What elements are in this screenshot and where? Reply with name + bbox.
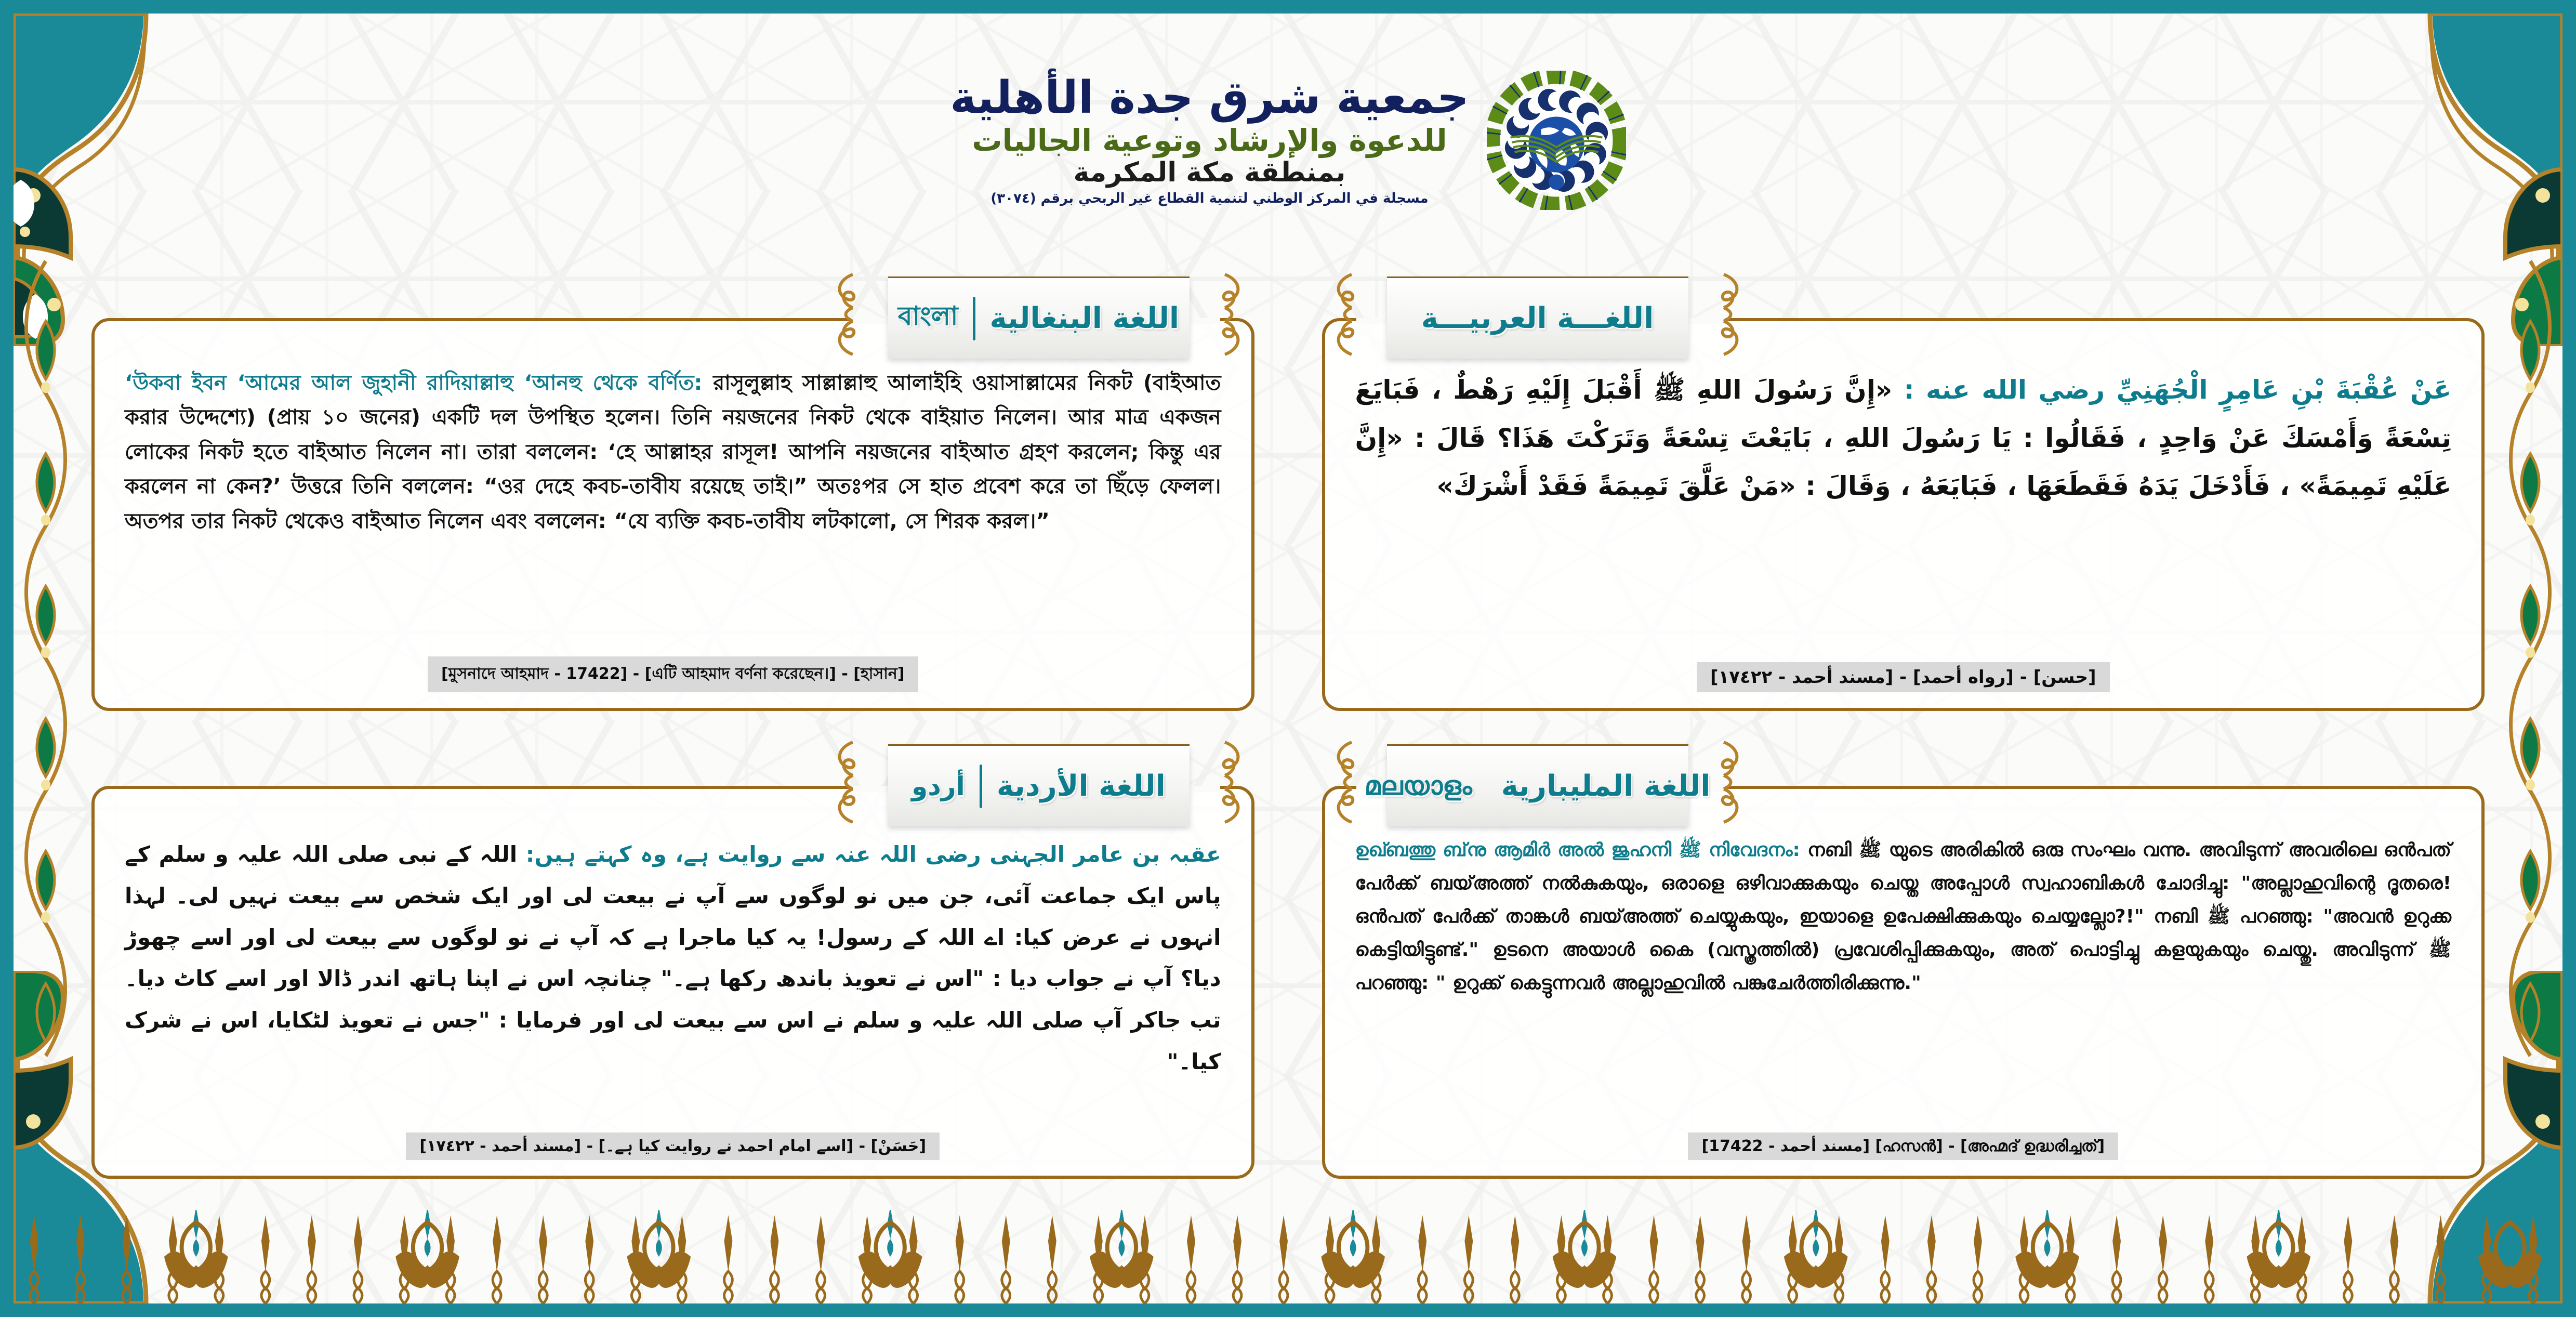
org-name-line1: جمعية شرق جدة الأهلية <box>950 74 1469 121</box>
org-name-line3: بمنطقة مكة المكرمة <box>950 159 1469 187</box>
hadith-body-bengali: রাসূলুল্লাহ সাল্লাল্লাহু আলাইহি ওয়াসাল্… <box>125 371 1221 533</box>
panel-box-bengali: ‘উকবা ইবন ‘আমের আল জুহানী রাদিয়াল্লাহু … <box>91 318 1254 711</box>
panel-title-plaque-urdu: اللغة الأردية أردو <box>857 741 1221 829</box>
bottom-fringe-ornament <box>14 1210 2562 1303</box>
side-ornament-right <box>2499 237 2561 1080</box>
panel-malayalam: اللغة المليبارية മലയാളം ഉഖ്ബത് <box>1322 741 2485 1179</box>
panel-urdu: اللغة الأردية أردو عقبہ بن عام <box>91 741 1254 1179</box>
citation-arabic: [حسن] - [رواه أحمد] - [مسند أحمد - ١٧٤٢٢… <box>1697 662 2110 692</box>
narrator-line-urdu: عقبہ بن عامر الجہنی رضی اللہ عنہ سے روای… <box>526 841 1221 867</box>
language-panels-grid: اللغة البنغالية বাংলা ‘উকবা ইব <box>91 273 2485 1179</box>
panel-title-arabic-arabic: اللغـــة العربيـــة <box>1421 301 1654 335</box>
poster-page: جمعية شرق جدة الأهلية للدعوة والإرشاد وت… <box>14 14 2562 1303</box>
scroll-ornament-right-icon <box>1718 271 1747 358</box>
scroll-ornament-right-icon <box>1219 739 1248 825</box>
panel-arabic: اللغـــة العربيـــة عَنْ عُقْبَةَ بْنِ ع… <box>1322 273 2485 711</box>
scroll-ornament-right-icon <box>1219 271 1248 358</box>
panel-title-native-bengali: বাংলা <box>898 297 958 340</box>
plaque-body-bengali: اللغة البنغالية বাংলা <box>888 276 1190 359</box>
scroll-ornament-right-icon <box>1718 739 1747 825</box>
poster-header: جمعية شرق جدة الأهلية للدعوة والإرشاد وت… <box>14 31 2562 249</box>
panel-box-malayalam: ഉഖ്ബത്തു ബ്‌നു ആമിർ അൽ ജുഹനി ﷺ നിവേദനം: … <box>1322 786 2485 1179</box>
panel-box-urdu: عقبہ بن عامر الجہنی رضی اللہ عنہ سے روای… <box>91 786 1254 1179</box>
panel-text-urdu: عقبہ بن عامر الجہنی رضی اللہ عنہ سے روای… <box>125 834 1221 1123</box>
panel-bengali: اللغة البنغالية বাংলা ‘উকবা ইব <box>91 273 1254 711</box>
scroll-ornament-left-icon <box>830 739 859 825</box>
scroll-ornament-left-icon <box>1329 271 1358 358</box>
org-registration-note: مسجلة في المركز الوطني لتنمية القطاع غير… <box>950 192 1469 206</box>
narrator-line-arabic: عَنْ عُقْبَةَ بْنِ عَامِرٍ الْجُهَنِيِّ … <box>1904 375 2451 405</box>
panel-title-native-urdu: أردو <box>911 771 965 801</box>
panel-text-bengali: ‘উকবা ইবন ‘আমের আল জুহানী রাদিয়াল্লাহু … <box>125 366 1221 647</box>
plaque-separator <box>973 297 975 340</box>
plaque-body-arabic: اللغـــة العربيـــة <box>1387 276 1688 359</box>
org-name-line2: للدعوة والإرشاد وتوعية الجاليات <box>950 125 1469 156</box>
panel-text-malayalam: ഉഖ്ബത്തു ബ്‌നു ആമിർ അൽ ജുഹനി ﷺ നിവേദനം: … <box>1355 834 2452 1123</box>
plaque-body-malayalam: اللغة المليبارية മലയാളം <box>1387 744 1688 826</box>
hadith-body-malayalam: നബി ﷺ യുടെ അരികിൽ ഒരു സംഘം വന്നു. അവിടുന… <box>1355 839 2452 994</box>
narrator-line-malayalam: ഉഖ്ബത്തു ബ്‌നു ആമിർ അൽ ജുഹനി ﷺ നിവേദനം: <box>1355 839 1800 861</box>
citation-bengali: [হাসান] - [এটি আহমাদ বর্ণনা করেছেন।] - [… <box>428 656 918 692</box>
plaque-separator <box>980 765 982 808</box>
panel-box-arabic: عَنْ عُقْبَةَ بْنِ عَامِرٍ الْجُهَنِيِّ … <box>1322 318 2485 711</box>
panel-title-plaque-arabic: اللغـــة العربيـــة <box>1356 273 1720 362</box>
narrator-line-bengali: ‘উকবা ইবন ‘আমের আল জুহানী রাদিয়াল্লাহু … <box>125 371 703 395</box>
panel-title-plaque-malayalam: اللغة المليبارية മലയാളം <box>1356 741 1720 829</box>
citation-urdu: [حَسَنْ] - [اسے امام احمد نے روایت کیا ہ… <box>406 1132 940 1160</box>
plaque-body-urdu: اللغة الأردية أردو <box>888 744 1190 826</box>
side-ornament-left <box>15 237 77 1080</box>
panel-title-arabic-urdu: اللغة الأردية <box>997 769 1166 803</box>
panel-title-native-malayalam: മലയാളം <box>1365 771 1472 801</box>
panel-title-arabic-bengali: اللغة البنغالية <box>990 301 1180 335</box>
poster-root: جمعية شرق جدة الأهلية للدعوة والإرشاد وت… <box>0 0 2576 1317</box>
scroll-ornament-left-icon <box>830 271 859 358</box>
organization-logo-icon <box>1487 71 1626 210</box>
panel-text-arabic: عَنْ عُقْبَةَ بْنِ عَامِرٍ الْجُهَنِيِّ … <box>1355 366 2452 653</box>
hadith-body-urdu: اللہ کے نبی صلی اللہ علیہ و سلم کے پاس ا… <box>125 841 1221 1074</box>
panel-title-plaque-bengali: اللغة البنغالية বাংলা <box>857 273 1221 362</box>
organization-calligraphy: جمعية شرق جدة الأهلية للدعوة والإرشاد وت… <box>950 74 1469 206</box>
citation-malayalam: [അഹ്മദ് ഉദ്ധരിച്ചത്] - [ഹസൻ] [مسند أحمد … <box>1688 1132 2118 1160</box>
scroll-ornament-left-icon <box>1329 739 1358 825</box>
panel-title-arabic-malayalam: اللغة المليبارية <box>1501 769 1711 803</box>
